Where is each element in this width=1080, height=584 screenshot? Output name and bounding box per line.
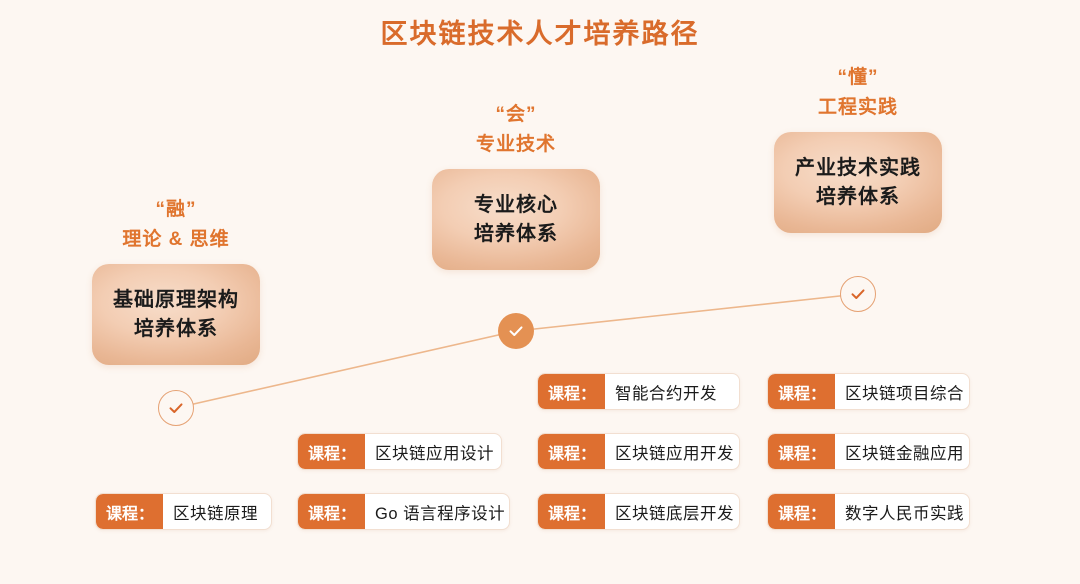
course-pill-text: 智能合约开发	[605, 374, 729, 409]
course-pill-label: 课程：	[768, 374, 835, 409]
course-pill[interactable]: 课程： 区块链应用设计	[297, 433, 502, 470]
course-pill-label: 课程：	[96, 494, 163, 529]
check-icon	[848, 284, 868, 304]
stage-card-3-line1: 产业技术实践	[795, 154, 921, 182]
course-pill-label: 课程：	[768, 494, 835, 529]
course-pill-label: 课程：	[538, 434, 605, 469]
course-pill-text: 数字人民币实践	[835, 494, 970, 529]
stage-subtitle-3: 工程实践	[774, 94, 942, 122]
stage-card-2-line1: 专业核心	[474, 191, 558, 219]
stage-caption-2: “会” 专业技术	[432, 101, 600, 158]
stage-keyword-1: “融”	[92, 196, 260, 224]
stage-subtitle-1: 理论 & 思维	[92, 226, 260, 254]
course-pill-text: 区块链应用开发	[605, 434, 740, 469]
course-pill[interactable]: 课程： 区块链底层开发	[537, 493, 740, 530]
stage-caption-3: “懂” 工程实践	[774, 64, 942, 121]
check-circle-outline-icon-1[interactable]	[158, 390, 194, 426]
stage-caption-1: “融” 理论 & 思维	[92, 196, 260, 253]
course-pill[interactable]: 课程： 数字人民币实践	[767, 493, 970, 530]
stage-group-1: “融” 理论 & 思维 基础原理架构 培养体系	[92, 196, 260, 365]
course-pill[interactable]: 课程： 智能合约开发	[537, 373, 740, 410]
course-pill-text: Go 语言程序设计	[365, 494, 510, 529]
page-title: 区块链技术人才培养路径	[0, 16, 1080, 54]
stage-card-3[interactable]: 产业技术实践 培养体系	[774, 132, 942, 233]
course-pill-label: 课程：	[538, 374, 605, 409]
stage-card-1[interactable]: 基础原理架构 培养体系	[92, 264, 260, 365]
check-icon	[506, 321, 526, 341]
stage-group-2: “会” 专业技术 专业核心 培养体系	[432, 101, 600, 270]
stage-group-3: “懂” 工程实践 产业技术实践 培养体系	[774, 64, 942, 233]
stage-subtitle-2: 专业技术	[432, 131, 600, 159]
course-pill[interactable]: 课程： Go 语言程序设计	[297, 493, 510, 530]
stage-card-1-line2: 培养体系	[134, 315, 218, 343]
stage-card-1-line1: 基础原理架构	[113, 286, 239, 314]
course-pill-text: 区块链项目综合	[835, 374, 970, 409]
check-circle-outline-icon-3[interactable]	[840, 276, 876, 312]
course-pill[interactable]: 课程： 区块链项目综合	[767, 373, 970, 410]
course-pill-label: 课程：	[768, 434, 835, 469]
course-pill[interactable]: 课程： 区块链金融应用	[767, 433, 970, 470]
stage-card-3-line2: 培养体系	[816, 183, 900, 211]
infographic-root: 区块链技术人才培养路径 “融” 理论 & 思维 基础原理架构 培养体系 “会” …	[0, 0, 1080, 584]
course-pill-text: 区块链金融应用	[835, 434, 970, 469]
stage-keyword-2: “会”	[432, 101, 600, 129]
check-circle-filled-icon-2[interactable]	[498, 313, 534, 349]
course-pill-label: 课程：	[298, 434, 365, 469]
course-pill[interactable]: 课程： 区块链应用开发	[537, 433, 740, 470]
course-pill-text: 区块链原理	[163, 494, 270, 529]
stage-card-2-line2: 培养体系	[474, 220, 558, 248]
check-icon	[166, 398, 186, 418]
course-pill-text: 区块链应用设计	[365, 434, 502, 469]
course-pill-label: 课程：	[298, 494, 365, 529]
course-pill-text: 区块链底层开发	[605, 494, 740, 529]
course-pill-label: 课程：	[538, 494, 605, 529]
stage-keyword-3: “懂”	[774, 64, 942, 92]
stage-card-2[interactable]: 专业核心 培养体系	[432, 169, 600, 270]
course-pill[interactable]: 课程： 区块链原理	[95, 493, 272, 530]
